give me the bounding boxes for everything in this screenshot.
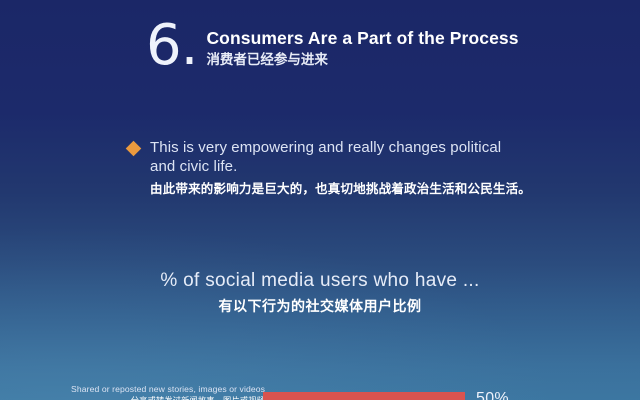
bar-value-label: 50% (476, 389, 509, 400)
slide-canvas: 6. Consumers Are a Part of the Process 消… (0, 0, 640, 400)
bullet-text-zh: 由此带来的影响力是巨大的，也真切地挑战着政治生活和公民生活。 (150, 180, 531, 198)
chart-title-zh: 有以下行为的社交媒体用户比例 (0, 295, 640, 317)
slide-number: 6. (146, 20, 197, 72)
bar-row: Shared or reposted new stories, images o… (0, 380, 640, 400)
chart-title-en: % of social media users who have ... (0, 269, 640, 293)
bar-label-zh: 分享或转发过新闻故事、图片或视频 (55, 395, 265, 400)
slide-title-zh: 消费者已经参与进来 (206, 50, 518, 69)
bar-track (263, 392, 473, 400)
diamond-bullet-icon (126, 141, 142, 157)
bullet-text-group: This is very empowering and really chang… (150, 138, 531, 198)
bar-label: Shared or reposted new stories, images o… (55, 384, 265, 400)
bullet-block: This is very empowering and really chang… (128, 138, 640, 198)
slide-title-en: Consumers Are a Part of the Process (206, 28, 518, 49)
header-text-group: Consumers Are a Part of the Process 消费者已… (206, 18, 518, 69)
bar-fill (263, 392, 465, 400)
bullet-text-en: This is very empowering and really chang… (150, 138, 520, 176)
chart-heading: % of social media users who have ... 有以下… (0, 269, 640, 317)
bar-chart: Shared or reposted new stories, images o… (0, 380, 640, 400)
bar-label-en: Shared or reposted new stories, images o… (55, 384, 265, 395)
slide-header: 6. Consumers Are a Part of the Process 消… (146, 18, 640, 72)
